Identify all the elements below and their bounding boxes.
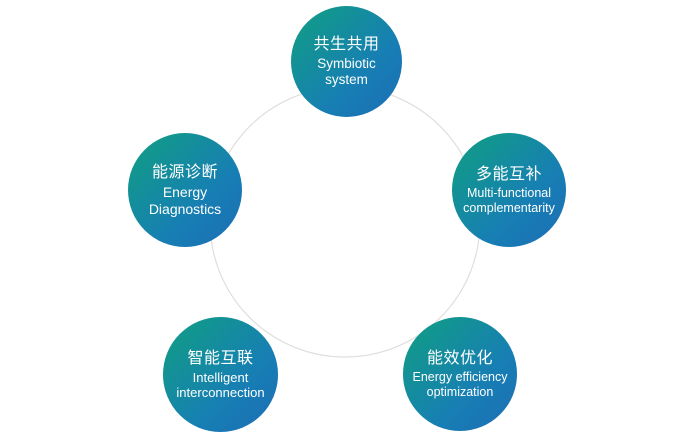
node-label-en-line1: Energy xyxy=(149,184,221,201)
node-label-cn: 能源诊断 xyxy=(152,163,218,182)
node-multi-functional-complementarity[interactable]: 多能互补 Multi-functional complementarity xyxy=(452,133,566,247)
node-label-cn: 智能互联 xyxy=(187,349,253,368)
node-label-en-line1: Symbiotic xyxy=(317,56,376,72)
ring-circle xyxy=(210,87,480,357)
node-label-en-line1: Energy efficiency xyxy=(413,370,508,385)
node-label-en: Energy Diagnostics xyxy=(148,184,222,217)
node-label-en-line1: Multi-functional xyxy=(463,186,555,201)
node-label-en: Intelligent interconnection xyxy=(175,370,265,401)
node-label-en: Energy efficiency optimization xyxy=(412,370,509,400)
node-label-en-line1: Intelligent xyxy=(176,370,264,386)
node-label-cn: 多能互补 xyxy=(476,165,542,184)
cycle-diagram: 共生共用 Symbiotic system 多能互补 Multi-functio… xyxy=(0,0,681,433)
node-energy-diagnostics[interactable]: 能源诊断 Energy Diagnostics xyxy=(128,133,242,247)
node-symbiotic-system[interactable]: 共生共用 Symbiotic system xyxy=(291,6,402,117)
node-label-en: Multi-functional complementarity xyxy=(462,186,556,216)
node-label-en-line2: optimization xyxy=(413,385,508,400)
node-label-cn: 能效优化 xyxy=(427,349,493,368)
node-label-en-line2: Diagnostics xyxy=(149,201,221,218)
node-intelligent-interconnection[interactable]: 智能互联 Intelligent interconnection xyxy=(163,317,278,432)
node-energy-efficiency-optimization[interactable]: 能效优化 Energy efficiency optimization xyxy=(403,317,517,431)
node-label-en: Symbiotic system xyxy=(316,56,377,88)
node-label-cn: 共生共用 xyxy=(313,35,379,54)
node-label-en-line2: interconnection xyxy=(176,385,264,401)
node-label-en-line2: system xyxy=(317,72,376,88)
node-label-en-line2: complementarity xyxy=(463,201,555,216)
